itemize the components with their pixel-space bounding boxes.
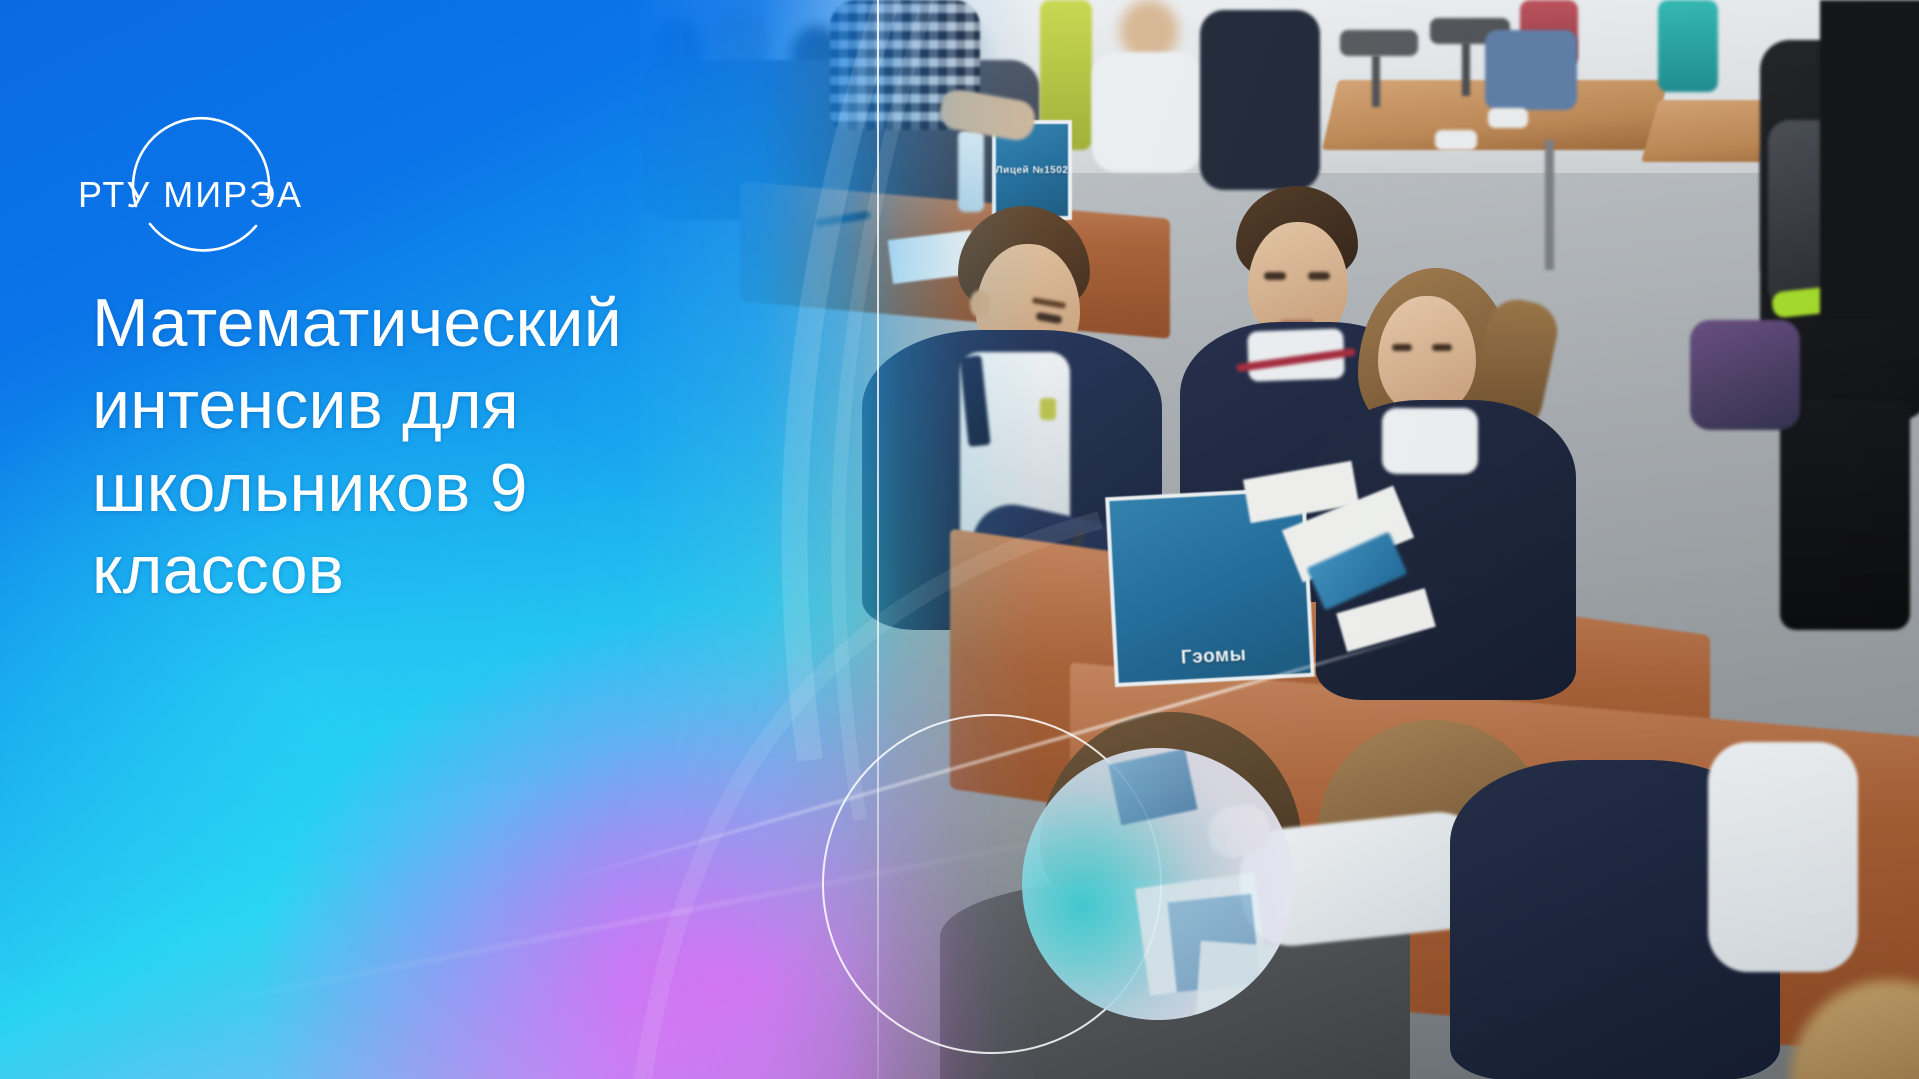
headline-line-1: Математический <box>92 282 732 364</box>
logo-wordmark: РТУ МИРЭА <box>78 174 328 216</box>
inset-blue-card <box>1108 749 1197 826</box>
inset-paper-2 <box>1195 941 1294 1020</box>
headline-line-3: школьников 9 <box>92 447 732 529</box>
headline-line-2: интенсив для <box>92 364 732 446</box>
rtu-mirea-logo[interactable]: РТУ МИРЭА <box>78 78 328 258</box>
promo-banner: Лицей №1502 <box>0 0 1919 1079</box>
circular-photo-inset <box>1022 748 1294 1020</box>
page-title: Математический интенсив для школьников 9… <box>92 282 732 611</box>
logo-ring-bottom-arc <box>150 224 256 250</box>
headline-line-4: классов <box>92 529 732 611</box>
